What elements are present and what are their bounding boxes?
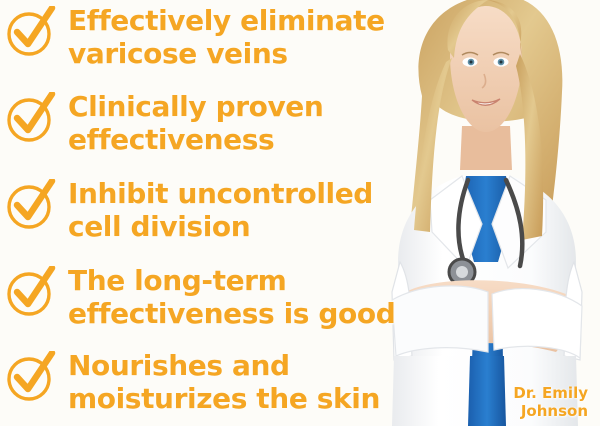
- benefit-item: Clinically proven effectiveness: [4, 90, 323, 156]
- circle-check-icon: [4, 179, 56, 231]
- benefit-label: Inhibit uncontrolled cell division: [68, 177, 373, 243]
- circle-check-icon: [4, 92, 56, 144]
- benefit-label: The long-term effectiveness is good: [68, 264, 395, 330]
- circle-check-icon: [4, 351, 56, 403]
- doctor-name-caption: Dr. Emily Johnson: [513, 384, 588, 420]
- circle-check-icon: [4, 6, 56, 58]
- circle-check-icon: [4, 266, 56, 318]
- promo-banner: Effectively eliminate varicose veins Cli…: [0, 0, 600, 426]
- benefit-label: Clinically proven effectiveness: [68, 90, 323, 156]
- benefit-label: Nourishes and moisturizes the skin: [68, 349, 380, 415]
- benefit-item: The long-term effectiveness is good: [4, 264, 395, 330]
- doctor-photo: [370, 0, 600, 426]
- benefit-item: Effectively eliminate varicose veins: [4, 4, 385, 70]
- benefit-label: Effectively eliminate varicose veins: [68, 4, 385, 70]
- benefit-item: Inhibit uncontrolled cell division: [4, 177, 373, 243]
- benefit-item: Nourishes and moisturizes the skin: [4, 349, 380, 415]
